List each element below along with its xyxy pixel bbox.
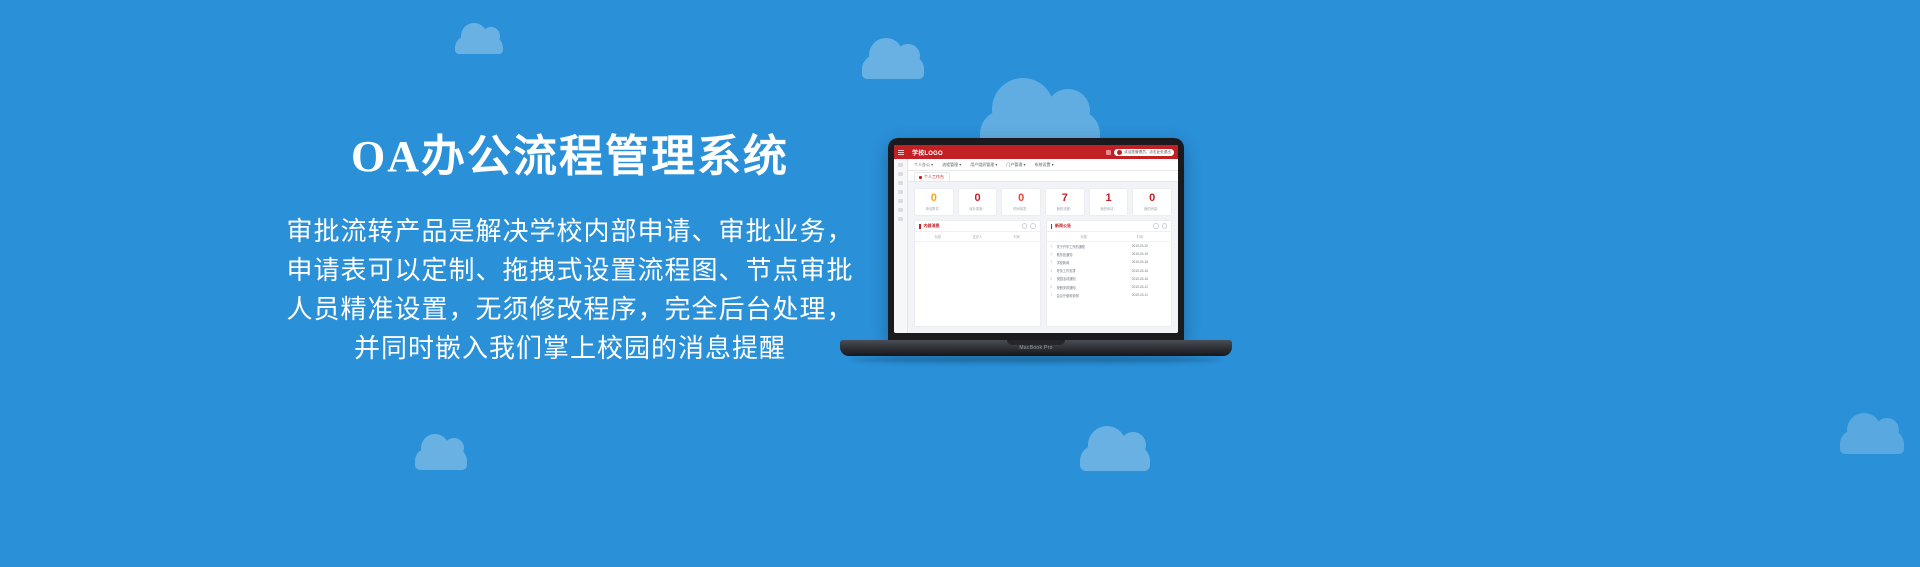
table-row[interactable]: 2 教务处通知 2019-03-19 <box>1047 250 1172 258</box>
row-date: 2019-03-18 <box>1113 260 1167 264</box>
grid-icon <box>919 176 922 179</box>
row-date: 2019-03-20 <box>1113 244 1167 248</box>
table-body <box>915 242 1040 326</box>
refresh-icon[interactable] <box>1022 223 1028 229</box>
row-date: 2019-03-15 <box>1113 277 1167 281</box>
column-header: 标题 <box>919 234 957 239</box>
nav-item-settings[interactable]: 系统设置 ▾ <box>1035 162 1054 168</box>
sidebar-item-icon[interactable] <box>898 217 903 221</box>
row-title: 学校新闻 <box>1057 260 1111 265</box>
row-title: 教务处通知 <box>1057 252 1111 257</box>
row-title: 校园活动通知 <box>1057 276 1111 281</box>
stat-value: 0 <box>1018 193 1024 204</box>
laptop-lid: 学校LOGO 欢迎您管理员，点击此处退出 <box>888 138 1184 342</box>
stat-value: 0 <box>1149 193 1155 204</box>
avatar <box>1117 150 1122 155</box>
stat-card-row: 0 申请附件： 0 待办事宜： 0 时间待发： <box>908 182 1178 220</box>
row-title: 关于开学工作的通知 <box>1057 244 1111 249</box>
sidebar-item-icon[interactable] <box>898 199 903 203</box>
topbar-actions: 欢迎您管理员，点击此处退出 <box>1106 149 1178 156</box>
table-row[interactable]: 6 放假安排通知 2019-03-12 <box>1047 283 1172 291</box>
column-header: 标题 <box>1057 234 1111 239</box>
nav-item-portal[interactable]: 门户管理 ▾ <box>1006 162 1025 168</box>
panel-news-announcements: 新闻公告 标题 时间 <box>1046 220 1173 327</box>
panel-row: 内部消息 标题 发送人 时间 <box>908 220 1178 333</box>
row-index: 6 <box>1051 285 1055 289</box>
app-main: 个人办公 ▾ 流程管理 ▾ 用户组织管理 ▾ 门户管理 ▾ 系统设置 ▾ 个人工… <box>908 159 1178 333</box>
table-row[interactable]: 7 会议厅使用说明 2019-03-11 <box>1047 291 1172 299</box>
table-body: 1 关于开学工作的通知 2019-03-20 2 教务处通知 2019-03-1… <box>1047 242 1172 326</box>
stat-value: 1 <box>1105 193 1111 204</box>
row-date: 2019-03-11 <box>1113 293 1167 297</box>
hero-banner: OA办公流程管理系统 审批流转产品是解决学校内部申请、审批业务， 申请表可以定制… <box>0 0 1920 567</box>
table-row[interactable]: 1 关于开学工作的通知 2019-03-20 <box>1047 242 1172 250</box>
nav-item-personal[interactable]: 个人办公 ▾ <box>914 162 933 168</box>
sidebar-item-icon[interactable] <box>898 172 903 176</box>
stat-label: 时间待发： <box>1013 206 1029 211</box>
panel-internal-messages: 内部消息 标题 发送人 时间 <box>914 220 1041 327</box>
table-header-row: 标题 时间 <box>1047 232 1172 242</box>
stat-label: 我的申请： <box>1100 206 1116 211</box>
column-header: 时间 <box>1113 234 1167 239</box>
tab-workbench[interactable]: 个人工作台 <box>914 172 950 181</box>
page-title: OA办公流程管理系统 <box>250 130 890 184</box>
row-date: 2019-03-19 <box>1113 252 1167 256</box>
refresh-icon[interactable] <box>1153 223 1159 229</box>
app-logo: 学校LOGO <box>908 148 943 157</box>
laptop-mockup: 学校LOGO 欢迎您管理员，点击此处退出 <box>840 138 1232 378</box>
nav-item-process[interactable]: 流程管理 ▾ <box>942 162 961 168</box>
stat-value: 0 <box>931 193 937 204</box>
stat-card[interactable]: 0 我的消息： <box>1132 188 1172 216</box>
sidebar-item-icon[interactable] <box>898 163 903 167</box>
laptop-base: MacBook Pro <box>840 340 1232 356</box>
row-index: 4 <box>1051 269 1055 273</box>
table-row[interactable]: 3 学校新闻 2019-03-18 <box>1047 258 1172 266</box>
stat-card[interactable]: 0 待办事宜： <box>958 188 998 216</box>
row-index: 3 <box>1051 260 1055 264</box>
stat-label: 申请附件： <box>926 206 942 211</box>
tab-label: 个人工作台 <box>924 174 944 180</box>
column-header: 时间 <box>998 234 1036 239</box>
row-date: 2019-03-12 <box>1113 285 1167 289</box>
row-date: 2019-03-16 <box>1113 269 1167 273</box>
row-title: 放假安排通知 <box>1057 285 1111 290</box>
stat-label: 我的消息： <box>1144 206 1160 211</box>
panel-title: 内部消息 <box>924 223 940 229</box>
row-index: 1 <box>1051 244 1055 248</box>
stat-card[interactable]: 0 申请附件： <box>914 188 954 216</box>
column-header: 发送人 <box>959 234 997 239</box>
laptop-shadow <box>850 356 1222 363</box>
stat-card[interactable]: 0 时间待发： <box>1001 188 1041 216</box>
row-title: 考务工作安排 <box>1057 268 1111 273</box>
row-index: 5 <box>1051 277 1055 281</box>
laptop-model-label: MacBook Pro <box>1019 345 1052 351</box>
laptop-screen: 学校LOGO 欢迎您管理员，点击此处退出 <box>894 145 1178 333</box>
stat-value: 0 <box>974 193 980 204</box>
hero-copy: OA办公流程管理系统 审批流转产品是解决学校内部申请、审批业务， 申请表可以定制… <box>250 130 890 368</box>
stat-card[interactable]: 7 我的流程： <box>1045 188 1085 216</box>
stat-card[interactable]: 1 我的申请： <box>1089 188 1129 216</box>
row-title: 会议厅使用说明 <box>1057 293 1111 298</box>
description-line: 审批流转产品是解决学校内部申请、审批业务， <box>250 212 890 251</box>
sidebar-item-icon[interactable] <box>898 190 903 194</box>
accent-bar <box>1051 224 1053 229</box>
hero-description: 审批流转产品是解决学校内部申请、审批业务， 申请表可以定制、拖拽式设置流程图、节… <box>250 212 890 368</box>
panel-header: 新闻公告 <box>1047 221 1172 232</box>
sidebar-item-icon[interactable] <box>898 181 903 185</box>
user-name-label: 欢迎您管理员，点击此处退出 <box>1124 150 1171 155</box>
cloud-icon <box>415 448 467 470</box>
cloud-icon <box>1840 430 1904 454</box>
table-row[interactable]: 4 考务工作安排 2019-03-16 <box>1047 267 1172 275</box>
cloud-icon <box>455 36 503 54</box>
app-topbar: 学校LOGO 欢迎您管理员，点击此处退出 <box>894 145 1178 159</box>
cloud-icon <box>1080 445 1150 471</box>
cloud-icon <box>862 55 924 79</box>
more-icon[interactable] <box>1162 223 1168 229</box>
nav-item-users[interactable]: 用户组织管理 ▾ <box>970 162 997 168</box>
description-line: 申请表可以定制、拖拽式设置流程图、节点审批 <box>250 251 890 290</box>
more-icon[interactable] <box>1030 223 1036 229</box>
table-header-row: 标题 发送人 时间 <box>915 232 1040 242</box>
column-header-index <box>1051 234 1055 239</box>
description-line: 人员精准设置，无须修改程序，完全后台处理， <box>250 290 890 329</box>
description-line: 并同时嵌入我们掌上校园的消息提醒 <box>250 329 890 368</box>
panel-title: 新闻公告 <box>1055 223 1071 229</box>
stat-label: 我的流程： <box>1057 206 1073 211</box>
table-row[interactable]: 5 校园活动通知 2019-03-15 <box>1047 275 1172 283</box>
bell-icon[interactable] <box>1106 150 1111 155</box>
app-nav: 个人办公 ▾ 流程管理 ▾ 用户组织管理 ▾ 门户管理 ▾ 系统设置 ▾ <box>908 159 1178 171</box>
app-sidebar <box>894 159 908 333</box>
stat-value: 7 <box>1062 193 1068 204</box>
app-tabs: 个人工作台 <box>908 171 1178 182</box>
app-body: 个人办公 ▾ 流程管理 ▾ 用户组织管理 ▾ 门户管理 ▾ 系统设置 ▾ 个人工… <box>894 159 1178 333</box>
sidebar-item-icon[interactable] <box>898 208 903 212</box>
menu-burger-icon[interactable] <box>894 150 908 155</box>
stat-label: 待办事宜： <box>969 206 985 211</box>
panel-header: 内部消息 <box>915 221 1040 232</box>
accent-bar <box>919 224 921 229</box>
user-menu[interactable]: 欢迎您管理员，点击此处退出 <box>1114 149 1174 156</box>
row-index: 7 <box>1051 293 1055 297</box>
row-index: 2 <box>1051 252 1055 256</box>
